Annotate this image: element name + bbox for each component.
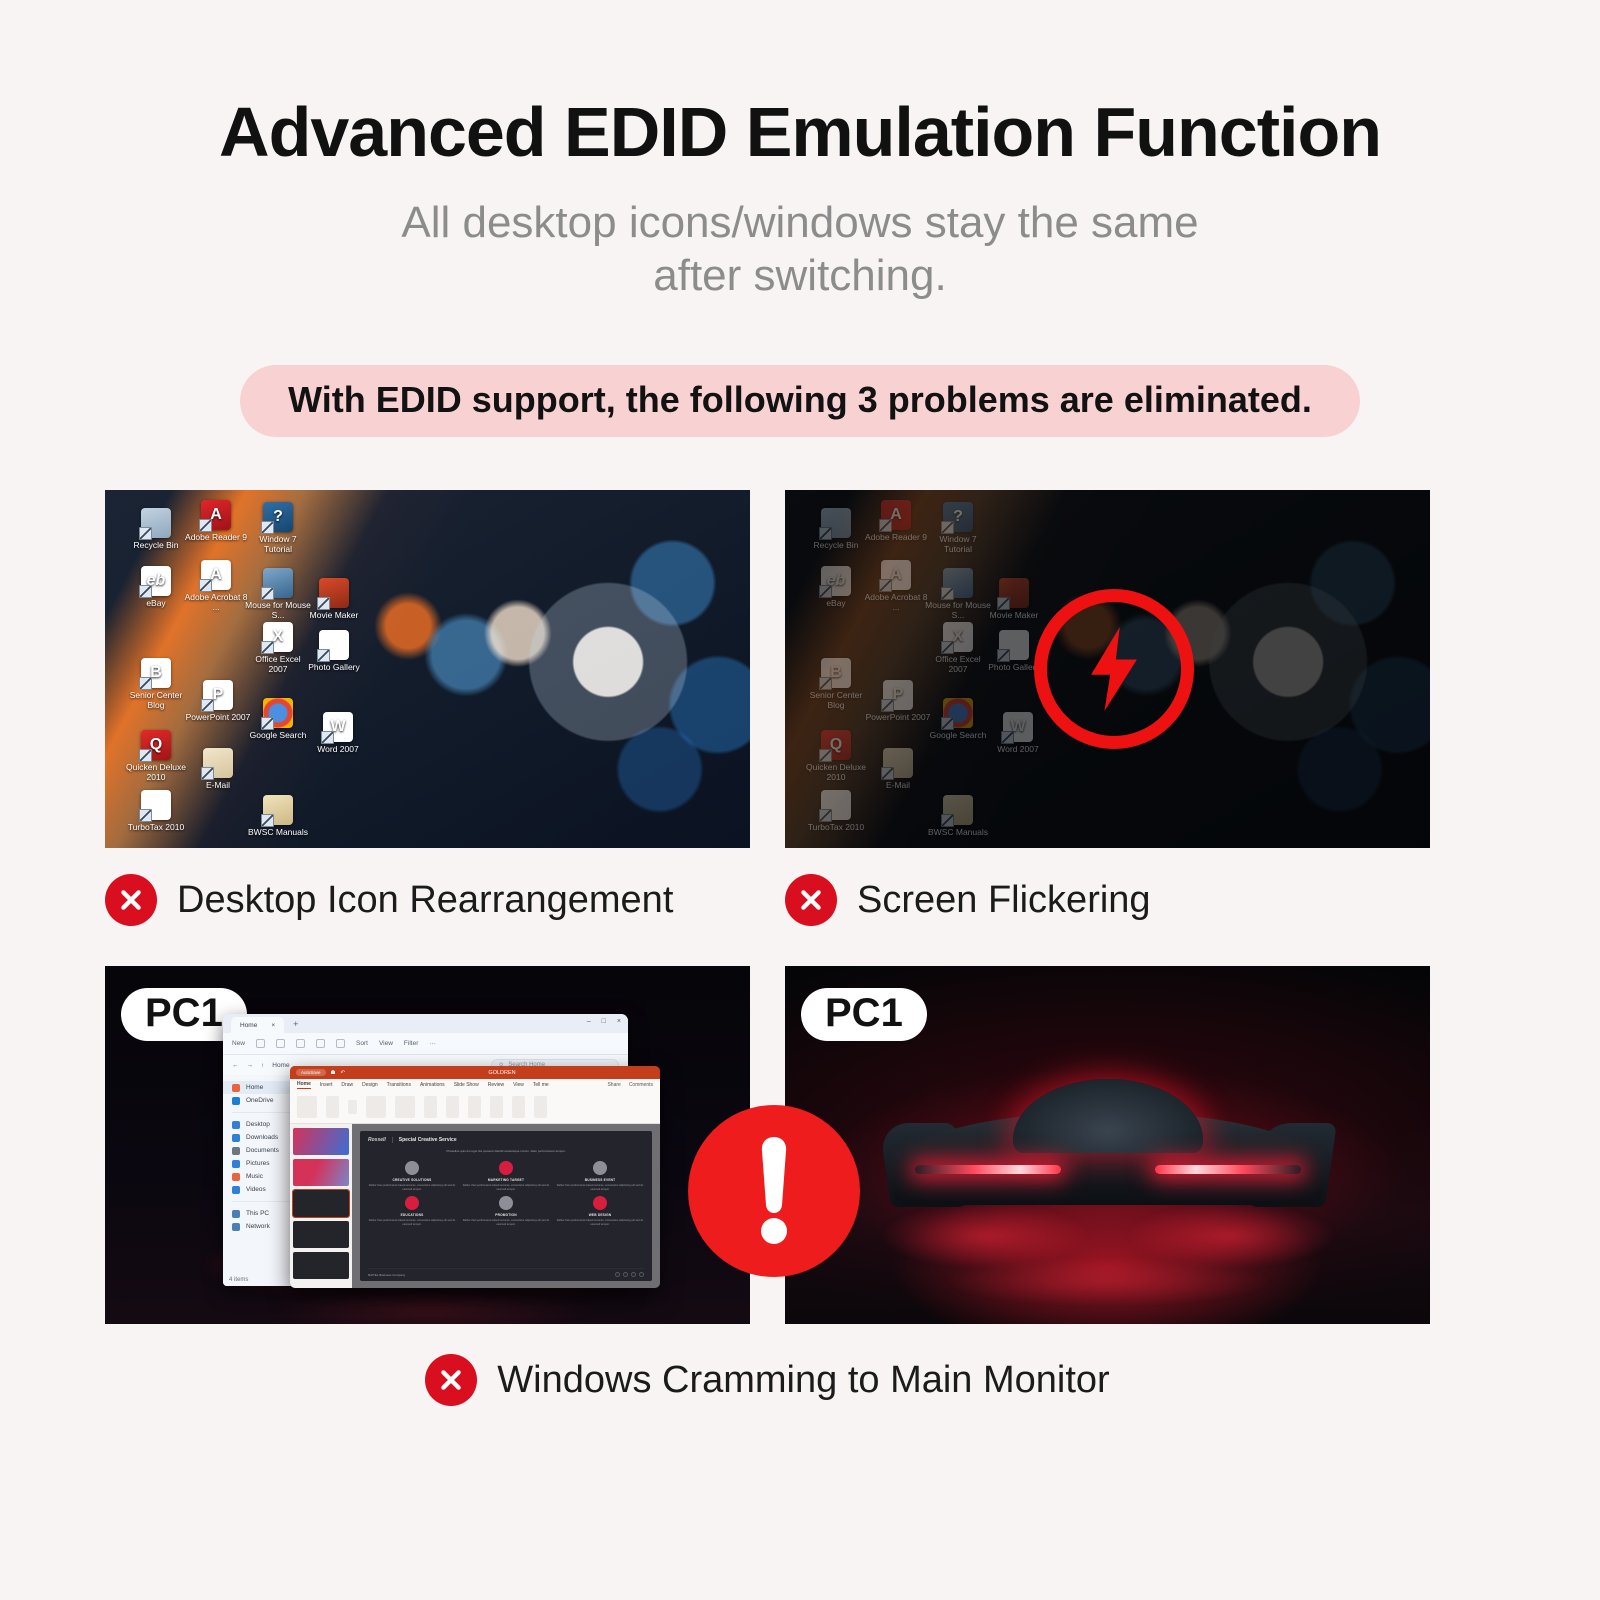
icon-glyph: ? — [263, 502, 293, 532]
icon-label: Adobe Reader 9 — [863, 533, 929, 543]
icon-label: Window 7 Tutorial — [245, 535, 311, 554]
desktop-icon-adobe-reader-9[interactable]: AAdobe Reader 9 — [863, 500, 929, 543]
icon-glyph: B — [141, 658, 171, 688]
sports-car-graphic — [893, 1079, 1323, 1229]
caption-windows-cramming: Windows Cramming to Main Monitor — [105, 1354, 1430, 1406]
ribbon-tab-home[interactable]: Home — [297, 1081, 311, 1089]
layout-icon[interactable] — [348, 1100, 357, 1114]
subtitle-line-1: All desktop icons/windows stay the same — [0, 196, 1600, 250]
folder-icon — [232, 1223, 240, 1231]
up-icon[interactable]: ↑ — [261, 1062, 264, 1069]
desktop-icon-word-2007[interactable]: WWord 2007 — [305, 712, 371, 755]
icon-glyph — [999, 630, 1029, 660]
service-item-promotion: PROMOTIONRather than performance based s… — [462, 1196, 550, 1227]
icon-glyph: A — [201, 560, 231, 590]
filter-button[interactable]: Filter — [404, 1040, 418, 1047]
ribbon-tab-draw[interactable]: Draw — [341, 1082, 353, 1088]
service-icon — [499, 1196, 513, 1210]
icon-glyph: P — [883, 680, 913, 710]
x-circle-icon — [425, 1354, 477, 1406]
save-icon[interactable]: ☗ — [331, 1070, 336, 1076]
service-icon — [405, 1161, 419, 1175]
text-box-icon[interactable] — [490, 1096, 503, 1118]
slide-footer-text: RAITEL Business Company — [368, 1273, 405, 1277]
rename-icon[interactable] — [316, 1039, 325, 1048]
icon-glyph — [319, 578, 349, 608]
new-button[interactable]: New — [232, 1040, 245, 1047]
x-circle-icon — [105, 874, 157, 926]
icon-label: Google Search — [925, 731, 991, 741]
icon-glyph: A — [201, 500, 231, 530]
grid-row-1: Recycle BinAAdobe Reader 9?Window 7 Tuto… — [105, 490, 1430, 926]
icon-glyph — [263, 698, 293, 728]
icon-glyph: W — [1003, 712, 1033, 742]
service-title: MARKETING TARGET — [462, 1178, 550, 1182]
icon-glyph: eb — [821, 566, 851, 596]
exclamation-circle-icon — [688, 1105, 860, 1277]
arrange-icon[interactable] — [512, 1096, 525, 1118]
folder-icon — [232, 1134, 240, 1142]
desktop-icon-turbotax-2010[interactable]: TurboTax 2010 — [123, 790, 189, 833]
slide-title: Special Creative Service — [399, 1137, 457, 1143]
banner-container: With EDID support, the following 3 probl… — [0, 365, 1600, 437]
ribbon-tab-animations[interactable]: Animations — [420, 1082, 445, 1088]
icon-glyph: A — [881, 560, 911, 590]
autosave-toggle[interactable]: AutoSave — [296, 1069, 326, 1076]
icon-glyph: B — [821, 658, 851, 688]
icon-label: Adobe Reader 9 — [183, 533, 249, 543]
icon-label: Senior Center Blog — [123, 691, 189, 710]
desktop-icon-senior-center-blog[interactable]: BSenior Center Blog — [123, 658, 189, 710]
share-button[interactable]: Share — [607, 1082, 620, 1088]
folder-icon — [232, 1173, 240, 1181]
overflow-menu-icon[interactable]: ··· — [429, 1040, 436, 1047]
desktop-icon-google-search[interactable]: Google Search — [925, 698, 991, 741]
service-icon — [593, 1161, 607, 1175]
cell-windows-crammed: PC1 Home × + – □ × — [105, 966, 750, 1324]
paragraph-group[interactable] — [395, 1096, 415, 1118]
delete-icon[interactable] — [336, 1039, 345, 1048]
icon-glyph — [943, 568, 973, 598]
ribbon-tab-transitions[interactable]: Transitions — [387, 1082, 411, 1088]
powerpoint-ribbon-tabs: HomeInsertDrawDesignTransitionsAnimation… — [290, 1079, 660, 1090]
icon-glyph — [943, 698, 973, 728]
close-icon[interactable]: × — [271, 1022, 275, 1029]
icon-glyph: eb — [141, 566, 171, 596]
icon-glyph — [883, 748, 913, 778]
sidebar-item-label: This PC — [246, 1210, 269, 1217]
page-title: Advanced EDID Emulation Function — [0, 96, 1600, 170]
service-title: BUSINESS EVENT — [556, 1178, 644, 1182]
ribbon-tab-slide-show[interactable]: Slide Show — [454, 1082, 479, 1088]
desktop-icon-movie-maker[interactable]: Movie Maker — [301, 578, 367, 621]
icon-label: E-Mail — [185, 781, 251, 791]
forward-icon[interactable]: → — [247, 1062, 254, 1069]
caption-screen-flickering: Screen Flickering — [785, 874, 1430, 926]
paste-group-icon[interactable] — [297, 1096, 317, 1118]
desktop-icon-e-mail[interactable]: E-Mail — [865, 748, 931, 791]
page-subtitle: All desktop icons/windows stay the same … — [0, 196, 1600, 303]
icon-label: eBay — [123, 599, 189, 609]
panel-car-wallpaper[interactable]: PC1 — [785, 966, 1430, 1324]
icon-label: Word 2007 — [305, 745, 371, 755]
desktop-icon-bwsc-manuals[interactable]: BWSC Manuals — [925, 795, 991, 838]
service-title: WEB DESIGN — [556, 1213, 644, 1217]
desktop-icon-window-7-tutorial[interactable]: ?Window 7 Tutorial — [245, 502, 311, 554]
desktop-icon-ebay[interactable]: ebeBay — [803, 566, 869, 609]
folder-icon — [232, 1210, 240, 1218]
service-description: Rather than performance based services, … — [556, 1219, 644, 1227]
powerpoint-workspace: Rossell Special Creative Service Phasell… — [290, 1124, 660, 1288]
icon-label: PowerPoint 2007 — [185, 713, 251, 723]
panel-windows-crammed[interactable]: PC1 Home × + – □ × — [105, 966, 750, 1324]
new-tab-icon[interactable]: + — [293, 1019, 298, 1029]
ribbon-tab-insert[interactable]: Insert — [320, 1082, 333, 1088]
powerpoint-ribbon — [290, 1090, 660, 1124]
desktop-icon-adobe-reader-9[interactable]: AAdobe Reader 9 — [183, 500, 249, 543]
desktop-icon-ebay[interactable]: ebeBay — [123, 566, 189, 609]
icon-glyph — [203, 748, 233, 778]
desktop-icon-senior-center-blog[interactable]: BSenior Center Blog — [803, 658, 869, 710]
comments-button[interactable]: Comments — [629, 1082, 653, 1088]
cut-icon[interactable] — [256, 1039, 265, 1048]
icon-label: TurboTax 2010 — [803, 823, 869, 833]
service-title: EDUCATIONS — [368, 1213, 456, 1217]
ribbon-tab-view[interactable]: View — [513, 1082, 524, 1088]
icon-glyph — [821, 790, 851, 820]
caption-text: Desktop Icon Rearrangement — [177, 879, 673, 922]
icon-label: Quicken Deluxe 2010 — [803, 763, 869, 782]
slide-thumbnail-30[interactable] — [293, 1252, 349, 1279]
sidebar-item-label: Desktop — [246, 1121, 270, 1128]
icon-label: Senior Center Blog — [803, 691, 869, 710]
cell-car-wallpaper: PC1 — [785, 966, 1430, 1324]
icon-glyph: X — [263, 622, 293, 652]
sidebar-item-label: Music — [246, 1173, 263, 1180]
back-icon[interactable]: ← — [232, 1062, 239, 1069]
car-headlight-left — [915, 1165, 1061, 1174]
explorer-tab-bar: Home × + – □ × — [223, 1014, 628, 1033]
folder-icon — [232, 1097, 240, 1105]
icon-glyph — [943, 795, 973, 825]
icon-label: Movie Maker — [301, 611, 367, 621]
folder-icon — [232, 1084, 240, 1092]
icon-glyph — [319, 630, 349, 660]
sidebar-item-label: Documents — [246, 1147, 279, 1154]
slide-thumbnail-pane[interactable] — [290, 1124, 352, 1288]
service-item-web-design: WEB DESIGNRather than performance based … — [556, 1196, 644, 1227]
explorer-tab-home[interactable]: Home × — [231, 1017, 284, 1033]
caption-text: Screen Flickering — [857, 879, 1151, 922]
icon-glyph: Q — [141, 730, 171, 760]
service-title: CREATIVE SOLUTIONS — [368, 1178, 456, 1182]
desktop-icon-quicken-deluxe-2010[interactable]: QQuicken Deluxe 2010 — [123, 730, 189, 782]
icon-label: BWSC Manuals — [245, 828, 311, 838]
service-description: Rather than performance based services, … — [368, 1219, 456, 1227]
sidebar-item-label: Downloads — [246, 1134, 278, 1141]
service-description: Rather than performance based services, … — [462, 1184, 550, 1192]
slide-thumbnail-29[interactable] — [293, 1221, 349, 1248]
slide-thumbnail-28[interactable] — [293, 1190, 349, 1217]
icon-label: Photo Gallery — [301, 663, 367, 673]
service-icon — [405, 1196, 419, 1210]
breadcrumb[interactable]: Home — [272, 1062, 289, 1069]
desktop-icon-grid: Recycle BinAAdobe Reader 9?Window 7 Tuto… — [105, 490, 750, 848]
maximize-icon[interactable]: □ — [602, 1018, 606, 1025]
icon-label: Adobe Acrobat 8 ... — [183, 593, 249, 612]
sidebar-item-label: Network — [246, 1223, 270, 1230]
ribbon-tab-design[interactable]: Design — [362, 1082, 378, 1088]
ribbon-right-actions: ShareComments — [607, 1082, 653, 1088]
icon-label: Adobe Acrobat 8 ... — [863, 593, 929, 612]
designer-icon[interactable] — [534, 1096, 547, 1118]
icon-label: Recycle Bin — [803, 541, 869, 551]
lightning-bolt-icon — [1034, 589, 1194, 749]
folder-icon — [232, 1147, 240, 1155]
folder-icon — [232, 1186, 240, 1194]
desktop-icon-bwsc-manuals[interactable]: BWSC Manuals — [245, 795, 311, 838]
panel-desktop-normal[interactable]: Recycle BinAAdobe Reader 9?Window 7 Tuto… — [105, 490, 750, 848]
desktop-icon-powerpoint-2007[interactable]: PPowerPoint 2007 — [865, 680, 931, 723]
x-circle-icon — [785, 874, 837, 926]
cell-desktop-normal: Recycle BinAAdobe Reader 9?Window 7 Tuto… — [105, 490, 750, 926]
desktop-icon-word-2007[interactable]: WWord 2007 — [985, 712, 1051, 755]
copy-icon[interactable] — [276, 1039, 285, 1048]
sidebar-item-label: OneDrive — [246, 1097, 273, 1104]
slide-subtitle: Phasellus quis dui eget dui posuere blan… — [368, 1149, 644, 1154]
icon-label: Recycle Bin — [123, 541, 189, 551]
sidebar-item-label: Videos — [246, 1186, 266, 1193]
slide-social-icons — [615, 1272, 644, 1277]
font-group[interactable] — [366, 1096, 386, 1118]
explorer-toolbar: New Sort View Filter ··· — [223, 1033, 628, 1055]
icon-label: eBay — [803, 599, 869, 609]
folder-icon — [232, 1160, 240, 1168]
icon-label: Word 2007 — [985, 745, 1051, 755]
folder-icon — [232, 1121, 240, 1129]
sidebar-item-label: Home — [246, 1084, 263, 1091]
desktop-icon-google-search[interactable]: Google Search — [245, 698, 311, 741]
edid-support-banner: With EDID support, the following 3 probl… — [240, 365, 1360, 437]
icon-glyph: W — [323, 712, 353, 742]
explorer-tab-label: Home — [240, 1022, 257, 1029]
pictures-icon[interactable] — [446, 1096, 459, 1118]
paste-icon[interactable] — [296, 1039, 305, 1048]
desktop-icon-adobe-acrobat-8[interactable]: AAdobe Acrobat 8 ... — [183, 560, 249, 612]
icon-label: PowerPoint 2007 — [865, 713, 931, 723]
explorer-status-bar: 4 items — [229, 1277, 248, 1283]
icon-glyph: A — [881, 500, 911, 530]
sidebar-item-label: Pictures — [246, 1160, 269, 1167]
slide-canvas-area: Rossell Special Creative Service Phasell… — [352, 1124, 660, 1288]
desktop-icon-e-mail[interactable]: E-Mail — [185, 748, 251, 791]
subtitle-line-2: after switching. — [0, 249, 1600, 303]
ribbon-tab-review[interactable]: Review — [488, 1082, 504, 1088]
service-icon — [593, 1196, 607, 1210]
icon-glyph: X — [943, 622, 973, 652]
desktop-icon-adobe-acrobat-8[interactable]: AAdobe Acrobat 8 ... — [863, 560, 929, 612]
desktop-icon-turbotax-2010[interactable]: TurboTax 2010 — [803, 790, 869, 833]
service-item-educations: EDUCATIONSRather than performance based … — [368, 1196, 456, 1227]
new-slide-icon[interactable] — [326, 1096, 339, 1118]
icon-label: E-Mail — [865, 781, 931, 791]
desktop-icon-movie-maker[interactable]: Movie Maker — [981, 578, 1047, 621]
slide-header: Rossell Special Creative Service — [368, 1137, 644, 1143]
desktop-icon-quicken-deluxe-2010[interactable]: QQuicken Deluxe 2010 — [803, 730, 869, 782]
desktop-icon-recycle-bin[interactable]: Recycle Bin — [803, 508, 869, 551]
slide-content: Rossell Special Creative Service Phasell… — [360, 1131, 652, 1281]
cell-desktop-flicker: Recycle BinAAdobe Reader 9?Window 7 Tuto… — [785, 490, 1430, 926]
minimize-icon[interactable]: – — [587, 1018, 591, 1025]
icon-glyph: Q — [821, 730, 851, 760]
desktop-icon-window-7-tutorial[interactable]: ?Window 7 Tutorial — [925, 502, 991, 554]
close-icon[interactable]: × — [617, 1018, 621, 1025]
service-title: PROMOTION — [462, 1213, 550, 1217]
pc1-badge: PC1 — [801, 988, 927, 1041]
icon-glyph — [263, 795, 293, 825]
icon-label: BWSC Manuals — [925, 828, 991, 838]
service-icon — [499, 1161, 513, 1175]
car-canopy — [1013, 1079, 1203, 1153]
slide-service-grid: CREATIVE SOLUTIONSRather than performanc… — [368, 1161, 644, 1227]
panel-desktop-flicker[interactable]: Recycle BinAAdobe Reader 9?Window 7 Tuto… — [785, 490, 1430, 848]
drawing-group[interactable] — [424, 1096, 437, 1118]
slide-footer: RAITEL Business Company — [368, 1268, 644, 1277]
icon-label: TurboTax 2010 — [123, 823, 189, 833]
powerpoint-title-bar: AutoSave ☗ ↶ GOLDREN — [290, 1066, 660, 1079]
icon-glyph: ? — [943, 502, 973, 532]
service-description: Rather than performance based services, … — [368, 1184, 456, 1192]
undo-icon[interactable]: ↶ — [340, 1070, 345, 1076]
caption-desktop-rearrangement: Desktop Icon Rearrangement — [105, 874, 750, 926]
service-description: Rather than performance based services, … — [556, 1184, 644, 1192]
service-description: Rather than performance based services, … — [462, 1219, 550, 1227]
service-item-creative-solutions: CREATIVE SOLUTIONSRather than performanc… — [368, 1161, 456, 1192]
icon-label: Google Search — [245, 731, 311, 741]
desktop-icon-recycle-bin[interactable]: Recycle Bin — [123, 508, 189, 551]
icon-label: Window 7 Tutorial — [925, 535, 991, 554]
icon-glyph — [141, 508, 171, 538]
window-controls: – □ × — [587, 1018, 621, 1025]
sort-button[interactable]: Sort — [356, 1040, 368, 1047]
icon-label: Movie Maker — [981, 611, 1047, 621]
desktop-icon-powerpoint-2007[interactable]: PPowerPoint 2007 — [185, 680, 251, 723]
icon-glyph — [821, 508, 851, 538]
icon-glyph — [141, 790, 171, 820]
slide-logo: Rossell — [368, 1137, 393, 1143]
service-item-business-event: BUSINESS EVENTRather than performance ba… — [556, 1161, 644, 1192]
view-button[interactable]: View — [379, 1040, 393, 1047]
caption-text: Windows Cramming to Main Monitor — [497, 1359, 1109, 1402]
shapes-icon[interactable] — [468, 1096, 481, 1118]
page-header: Advanced EDID Emulation Function All des… — [0, 0, 1600, 303]
slide-thumbnail-27[interactable] — [293, 1159, 349, 1186]
service-item-marketing-target: MARKETING TARGETRather than performance … — [462, 1161, 550, 1192]
desktop-icon-photo-gallery[interactable]: Photo Gallery — [301, 630, 367, 673]
powerpoint-file-name: GOLDREN — [488, 1070, 515, 1076]
icon-glyph — [263, 568, 293, 598]
slide-thumbnail-26[interactable] — [293, 1128, 349, 1155]
ribbon-tab-tell-me[interactable]: Tell me — [533, 1082, 549, 1088]
icon-label: Quicken Deluxe 2010 — [123, 763, 189, 782]
icon-glyph — [999, 578, 1029, 608]
icon-glyph: P — [203, 680, 233, 710]
car-headlight-right — [1155, 1165, 1301, 1174]
powerpoint-window[interactable]: AutoSave ☗ ↶ GOLDREN HomeInsertDrawDesig… — [290, 1066, 660, 1288]
